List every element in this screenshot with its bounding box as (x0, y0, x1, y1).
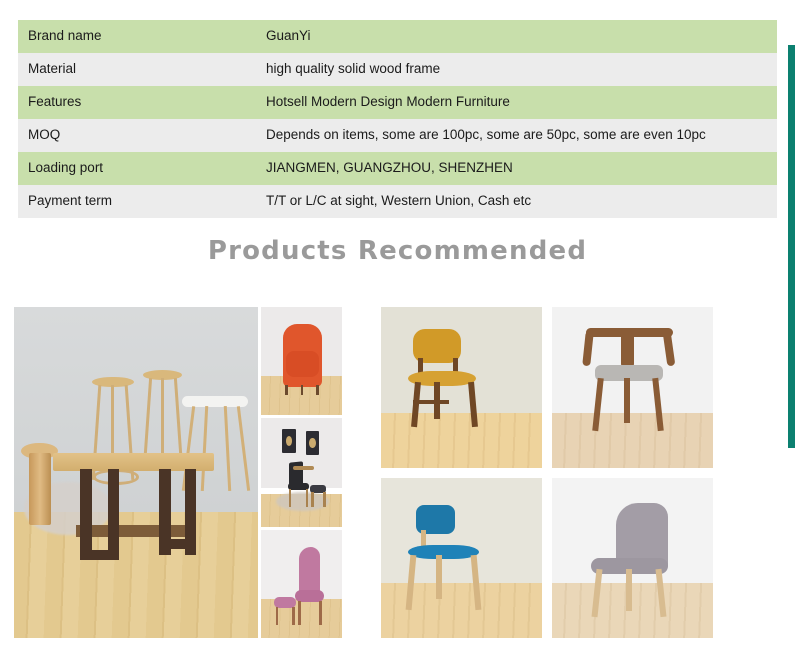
chair-leg (298, 601, 301, 625)
wood-furniture-room-collage[interactable] (14, 307, 342, 638)
wall (381, 478, 542, 584)
spec-label: Payment term (18, 185, 262, 218)
showroom-scene (14, 307, 258, 638)
armchair-legs (285, 385, 319, 395)
wood-floor (381, 413, 542, 468)
products-recommended-gallery (0, 307, 795, 639)
chair-armrest (293, 466, 314, 470)
bench-metal-leg (108, 469, 119, 555)
product-specification-table: Brand name GuanYi Material high quality … (18, 20, 777, 218)
chair-leg (301, 385, 304, 395)
table-row: Material high quality solid wood frame (18, 53, 777, 86)
wood-bench-and-stools-photo[interactable] (14, 307, 258, 638)
spec-label: Features (18, 86, 262, 119)
table-row: Loading port JIANGMEN, GUANGZHOU, SHENZH… (18, 152, 777, 185)
chair-backrest (416, 505, 455, 534)
chair-leg (289, 489, 292, 507)
wood-floor (552, 413, 713, 468)
stool-leg (323, 492, 325, 507)
chair-stretcher (413, 400, 448, 404)
table-row: Features Hotsell Modern Design Modern Fu… (18, 86, 777, 119)
table-row: Payment term T/T or L/C at sight, Wester… (18, 185, 777, 218)
dining-chair-grid (381, 307, 713, 638)
framed-wall-print-left (282, 429, 296, 453)
bench-foot-rail (80, 550, 119, 560)
bench-foot-rail (159, 539, 196, 549)
chair-leg (624, 378, 630, 423)
wood-floor (381, 583, 542, 638)
spec-value: T/T or L/C at sight, Western Union, Cash… (262, 185, 777, 218)
bench-table-top (53, 453, 214, 471)
chair-seat (408, 545, 479, 559)
turned-wood-pedestal (29, 453, 51, 526)
wood-floor (552, 583, 713, 638)
blue-dining-chair-photo[interactable] (381, 478, 542, 639)
orange-armchair-photo[interactable] (261, 307, 342, 415)
grey-shell-chair-photo[interactable] (552, 478, 713, 639)
spec-label: MOQ (18, 119, 262, 152)
chair-back-splat (621, 333, 634, 368)
mustard-dining-chair-photo[interactable] (381, 307, 542, 468)
chair-leg (319, 601, 322, 625)
spec-value: GuanYi (262, 20, 777, 53)
spec-label: Loading port (18, 152, 262, 185)
table-row: Brand name GuanYi (18, 20, 777, 53)
wall (381, 307, 542, 413)
chair-leg (436, 555, 442, 600)
table-row: MOQ Depends on items, some are 100pc, so… (18, 119, 777, 152)
collage-thumbnail-column (261, 307, 342, 638)
spec-table-body: Brand name GuanYi Material high quality … (18, 20, 777, 218)
solid-wood-bench-table (53, 453, 214, 592)
spec-value: Hotsell Modern Design Modern Furniture (262, 86, 777, 119)
bench-lower-shelf (76, 525, 192, 538)
wood-floor (261, 599, 342, 638)
orange-tub-armchair (283, 324, 322, 387)
pink-lounge-chair-photo[interactable] (261, 530, 342, 638)
stool-leg (311, 492, 313, 507)
bench-metal-leg (80, 469, 91, 555)
chair-leg (306, 489, 309, 507)
spec-value: JIANGMEN, GUANGZHOU, SHENZHEN (262, 152, 777, 185)
chair-leg (626, 569, 632, 611)
spec-value: Depends on items, some are 100pc, some a… (262, 119, 777, 152)
spec-label: Material (18, 53, 262, 86)
table-leg (224, 406, 232, 491)
stool-leg (292, 607, 295, 625)
page-title: Products Recommended (0, 236, 795, 266)
black-office-chair-photo[interactable] (261, 418, 342, 526)
spec-value: high quality solid wood frame (262, 53, 777, 86)
brown-armchair-photo[interactable] (552, 307, 713, 468)
chair-leg (285, 385, 288, 395)
stool-leg (276, 607, 279, 625)
spec-label: Brand name (18, 20, 262, 53)
chair-leg (316, 385, 319, 395)
table-leg (236, 406, 250, 491)
framed-wall-print-right (306, 431, 320, 455)
